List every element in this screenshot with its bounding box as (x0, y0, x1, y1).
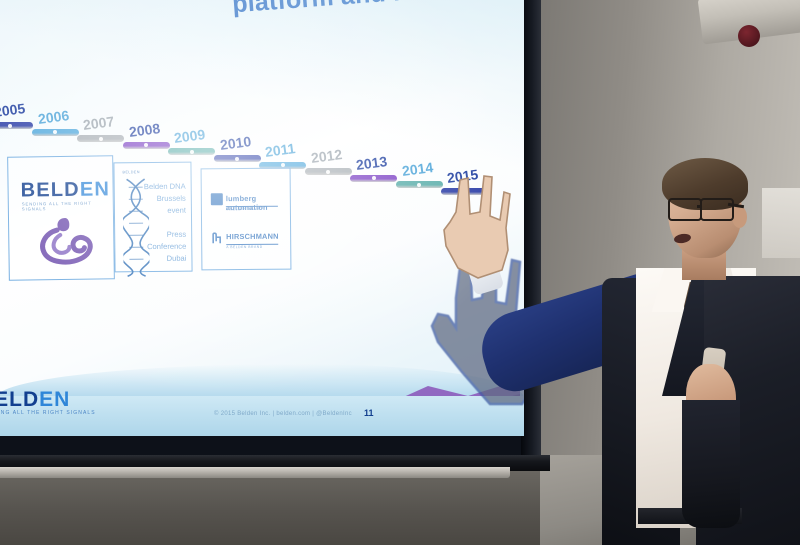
glasses-lens-left (668, 198, 702, 221)
projection-screen-weight-bar (0, 467, 510, 478)
hirschmann-name: HIRSCHMANN (226, 232, 279, 241)
timeline-bar-2006 (32, 129, 79, 136)
timeline-bar-2009 (168, 148, 215, 155)
slide-title: platform and multi- (231, 0, 463, 19)
timeline-year-label-2007: 2007 (82, 113, 115, 133)
timeline-year-label-2005: 2005 (0, 100, 26, 120)
timeline-bar-2005 (0, 122, 33, 129)
lumberg-sub: A BELDEN BRAND (226, 207, 262, 211)
belden-tagline: SENDING ALL THE RIGHT SIGNALS (22, 200, 113, 211)
timeline-year-label-2006: 2006 (37, 107, 70, 127)
timeline-bar-2014 (396, 181, 443, 188)
timeline-year-label-2011: 2011 (264, 140, 296, 160)
brands-box: lumberg automation A BELDEN BRAND HIRSCH… (201, 168, 292, 271)
timeline-year-label-2012: 2012 (310, 146, 343, 166)
timeline-bar-2008 (123, 142, 170, 149)
timeline-bar-2007 (77, 135, 124, 142)
belden-logo-box: BELDEN SENDING ALL THE RIGHT SIGNALS (7, 155, 115, 280)
brand-lumberg: lumberg automation A BELDEN BRAND (211, 193, 285, 194)
dna-box-text-bottom: Press Conference Dubai (128, 229, 186, 266)
timeline-year-label-2009: 2009 (173, 126, 206, 146)
presenter (486, 150, 800, 545)
timeline-year-label-2008: 2008 (128, 120, 161, 140)
timeline-bar-2012 (305, 168, 352, 175)
timeline-year-label-2013: 2013 (355, 153, 388, 173)
swirl-emblem-icon (35, 214, 98, 267)
slide-page-number: 11 (364, 408, 374, 418)
dna-box-header: BELDEN (123, 170, 140, 174)
belden-dna-box: BELDEN Belden DNA Brussels event Press C… (113, 162, 192, 273)
footer-tagline: SENDING ALL THE RIGHT SIGNALS (0, 410, 96, 416)
timeline-bar-2010 (214, 155, 261, 162)
timeline-year-label-2014: 2014 (401, 159, 434, 179)
belden-wordmark: BELDEN (20, 178, 110, 202)
presenter-raised-hand (438, 174, 514, 280)
hirschmann-mark-icon (211, 231, 223, 243)
dna-box-text-top: Belden DNA Brussels event (128, 181, 186, 218)
presenter-ear (732, 206, 747, 228)
footer-belden-logo: BELDEN (0, 388, 70, 412)
presenter-lowered-arm (682, 400, 740, 528)
brand-hirschmann: HIRSCHMANN A BELDEN BRAND (211, 231, 285, 232)
glasses-bridge (697, 205, 702, 208)
timeline-year-label-2010: 2010 (219, 133, 252, 153)
hirschmann-sub: A BELDEN BRAND (226, 245, 262, 249)
sprinkler-head-icon (738, 25, 760, 47)
glasses-lens-right (700, 198, 734, 221)
lumberg-mark-icon (211, 193, 223, 205)
timeline-bar-2013 (350, 175, 397, 182)
screenshot-root: platform and multi- 20052006200720082009… (0, 0, 800, 545)
footer-credit: © 2015 Belden Inc. | belden.com | @Belde… (214, 411, 352, 417)
